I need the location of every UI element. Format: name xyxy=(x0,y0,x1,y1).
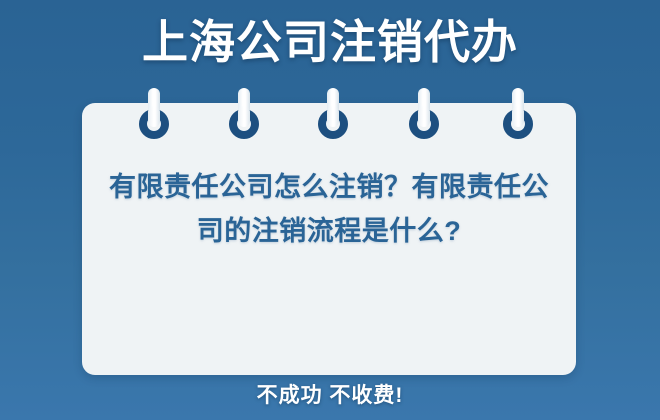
poster-canvas: 上海公司注销代办 有限责任公司怎么注销？有限责任公司的注销流程是什么? 不成功 … xyxy=(0,0,660,420)
ring-pin-front-icon xyxy=(238,106,250,127)
ring-pin-front-icon xyxy=(148,106,160,127)
ring-pin-front-icon xyxy=(418,106,430,127)
page-title: 上海公司注销代办 xyxy=(0,11,660,73)
card-heading: 有限责任公司怎么注销？有限责任公司的注销流程是什么? xyxy=(104,165,554,253)
ring-pin-front-icon xyxy=(512,106,524,127)
binder-ring-icon-5 xyxy=(502,88,534,138)
note-card: 有限责任公司怎么注销？有限责任公司的注销流程是什么? xyxy=(82,103,576,375)
binder-ring-icon-2 xyxy=(228,88,260,138)
binder-ring-icon-1 xyxy=(138,88,170,138)
slogan-text: 不成功 不收费! xyxy=(0,381,660,411)
binder-ring-icon-3 xyxy=(317,88,349,138)
binder-ring-icon-4 xyxy=(408,88,440,138)
ring-pin-front-icon xyxy=(327,106,339,127)
